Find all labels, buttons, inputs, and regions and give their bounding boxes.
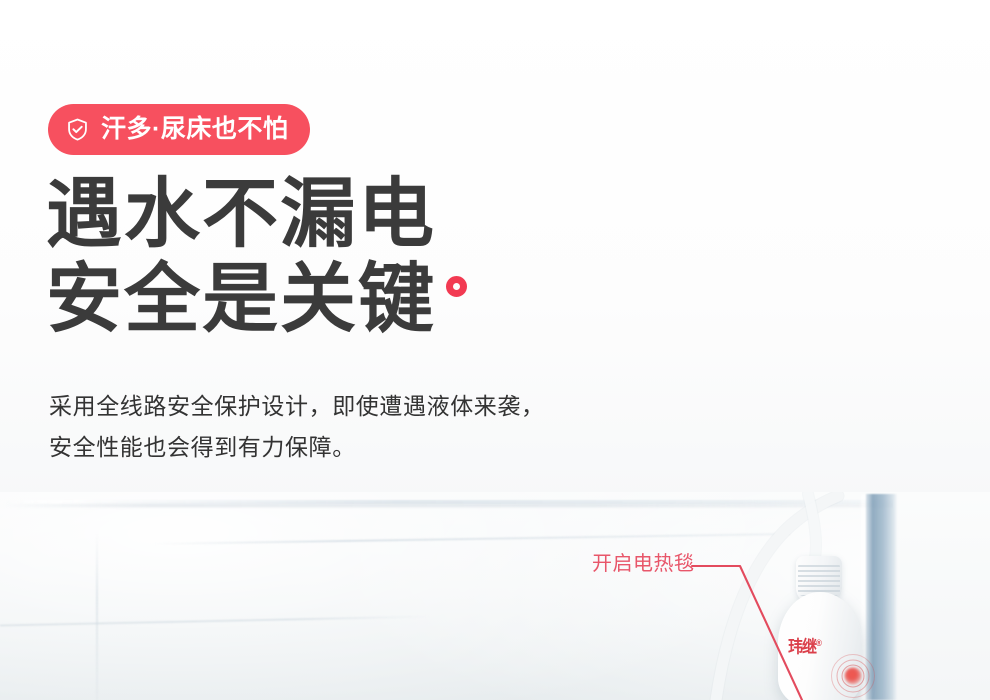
headline-line-1: 遇水不漏电 <box>46 172 646 257</box>
callout-label: 开启电热毯 <box>592 554 695 574</box>
feature-badge-label: 汗多·尿床也不怕 <box>101 117 288 142</box>
controller-trademark: ® <box>816 638 822 648</box>
headline-line-1-text: 遇水不漏电 <box>46 172 436 257</box>
body-copy: 采用全线路安全保护设计，即使遭遇液体来袭， 安全性能也会得到有力保障。 <box>49 386 689 468</box>
controller-brand-text: 玮继 <box>788 638 816 657</box>
photo-scene: 玮继® <box>0 492 990 700</box>
controller-brand-mark: 玮继® <box>788 639 822 656</box>
headline: 遇水不漏电 安全是关键 <box>46 172 646 342</box>
controller-connector-ribs <box>798 562 840 596</box>
body-copy-line-2: 安全性能也会得到有力保障。 <box>49 427 689 468</box>
red-ring-marker-icon <box>446 276 467 297</box>
headline-line-2-text: 安全是关键 <box>46 257 436 342</box>
text-panel: 汗多·尿床也不怕 遇水不漏电 安全是关键 采用全线路安全保护设计，即使遭遇液体来… <box>0 0 990 500</box>
power-indicator-ripple-icon <box>831 654 875 698</box>
feature-badge: 汗多·尿床也不怕 <box>48 104 310 155</box>
body-copy-line-1: 采用全线路安全保护设计，即使遭遇液体来袭， <box>49 386 689 427</box>
indicator-core-glow <box>845 668 862 685</box>
tank-glass-edge-vertical <box>96 532 98 700</box>
headline-line-2: 安全是关键 <box>46 257 646 342</box>
product-feature-page: 汗多·尿床也不怕 遇水不漏电 安全是关键 采用全线路安全保护设计，即使遭遇液体来… <box>0 0 990 700</box>
shield-check-icon <box>65 117 90 142</box>
